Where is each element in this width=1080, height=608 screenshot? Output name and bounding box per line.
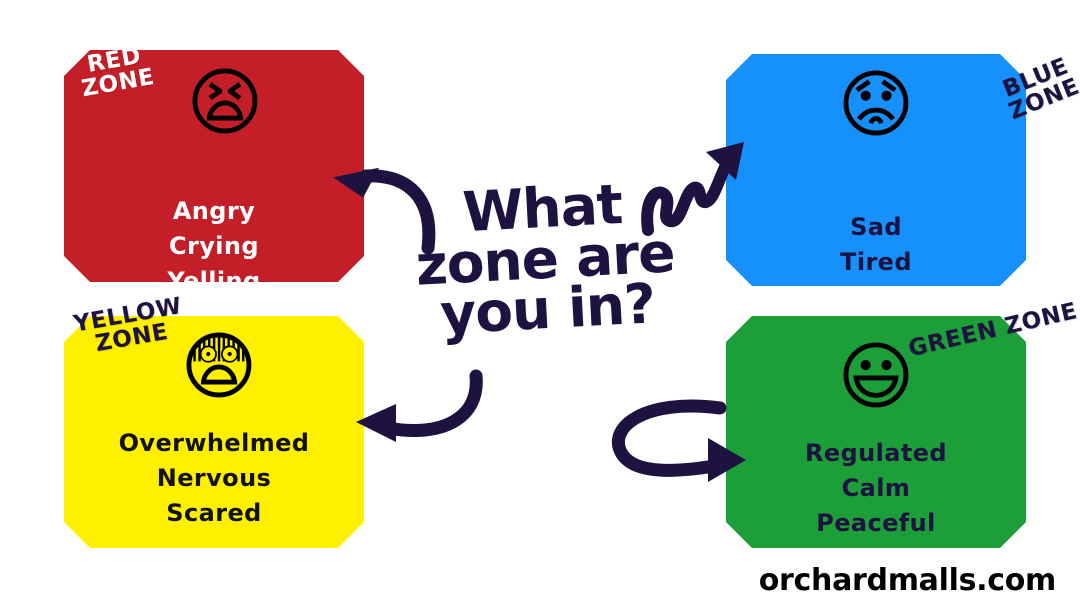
zone-yellow-word-2: Nervous: [64, 464, 364, 492]
site-url: orchardmalls.com: [759, 563, 1056, 598]
zone-blue-word-3: Sick: [726, 283, 1026, 311]
zone-green-word-1: Regulated: [726, 439, 1026, 467]
zone-yellow-word-3: Scared: [64, 499, 364, 527]
zone-card-blue[interactable]: 😟 Sad Tired Sick: [726, 54, 1026, 286]
zone-card-green[interactable]: 😃 Regulated Calm Peaceful: [726, 316, 1026, 548]
zone-blue-word-list: Sad Tired Sick: [726, 206, 1026, 318]
worried-face-emoji: 😟: [726, 68, 1026, 142]
zone-green-word-3: Peaceful: [726, 509, 1026, 537]
zone-green-word-2: Calm: [726, 474, 1026, 502]
page-title: What zone are you in?: [381, 175, 709, 343]
grinning-face-emoji: 😃: [726, 340, 1026, 414]
curved-arrow-to-green-zone: [604, 402, 754, 488]
poster-canvas: 😫 Angry Crying Yelling RED ZONE 😟 Sad Ti…: [0, 0, 1080, 608]
curved-arrow-to-yellow-zone: [330, 372, 480, 452]
zone-blue-word-2: Tired: [726, 248, 1026, 276]
zone-yellow-word-list: Overwhelmed Nervous Scared: [64, 422, 364, 534]
zone-blue-word-1: Sad: [726, 213, 1026, 241]
zone-yellow-word-1: Overwhelmed: [64, 429, 364, 457]
zone-red-word-3: Yelling: [64, 267, 364, 295]
zone-green-word-list: Regulated Calm Peaceful: [726, 432, 1026, 544]
